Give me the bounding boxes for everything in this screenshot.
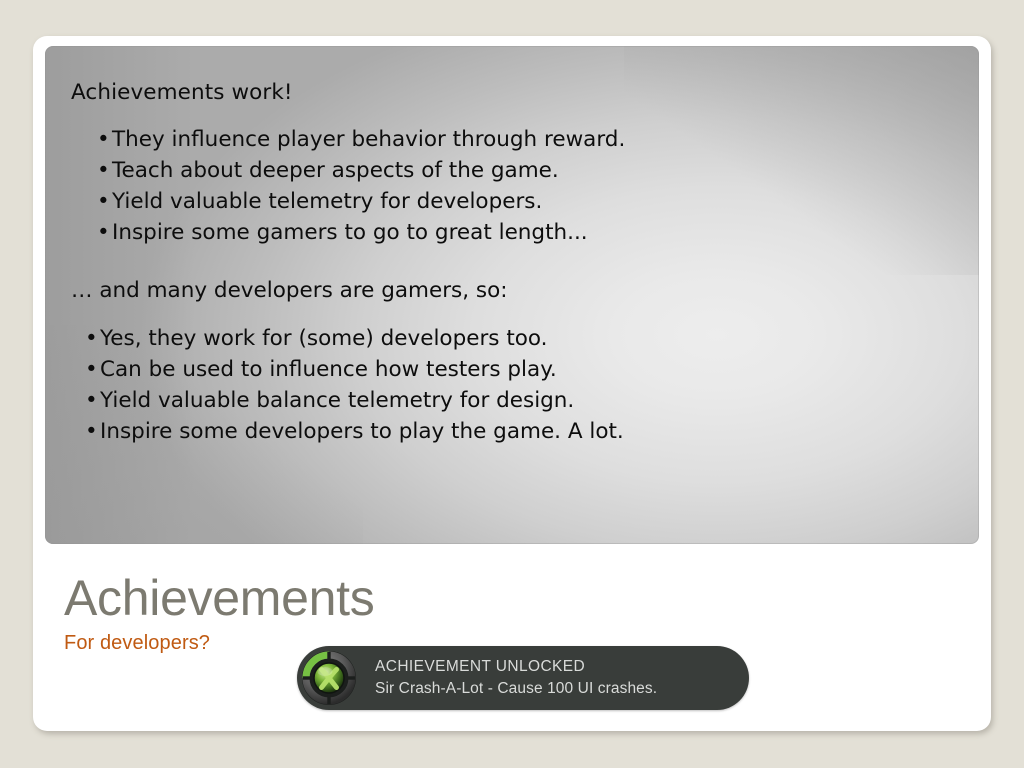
content-image-panel: Achievements work! •They influence playe… [45, 46, 979, 544]
title-block: Achievements For developers? [64, 570, 374, 656]
bullet-list-item: •Yield valuable balance telemetry for de… [85, 385, 979, 416]
panel-transition-line: … and many developers are gamers, so: [71, 277, 979, 304]
bullet-list-item: •Teach about deeper aspects of the game. [97, 155, 979, 186]
bullet-marker-icon: • [97, 124, 112, 155]
achievement-description: Sir Crash-A-Lot - Cause 100 UI crashes. [375, 678, 657, 700]
bullet-item-label: Inspire some gamers to go to great lengt… [112, 220, 588, 245]
achievement-heading: ACHIEVEMENT UNLOCKED [375, 657, 657, 677]
bullet-list-item: •Yes, they work for (some) developers to… [85, 323, 979, 354]
panel-text-content: Achievements work! •They influence playe… [45, 46, 979, 447]
page-title: Achievements [64, 570, 374, 626]
bullet-marker-icon: • [97, 186, 112, 217]
achievement-toast: ACHIEVEMENT UNLOCKED Sir Crash-A-Lot - C… [297, 646, 749, 710]
slide-card: Achievements work! •They influence playe… [33, 36, 991, 731]
bullet-marker-icon: • [85, 354, 100, 385]
bullet-list-group-1: •They influence player behavior through … [71, 124, 979, 248]
bullet-list-item: •Inspire some gamers to go to great leng… [97, 217, 979, 248]
achievement-text-block: ACHIEVEMENT UNLOCKED Sir Crash-A-Lot - C… [375, 657, 657, 700]
bullet-item-label: Can be used to influence how testers pla… [100, 357, 557, 382]
bullet-item-label: Yes, they work for (some) developers too… [100, 326, 548, 351]
bullet-item-label: Inspire some developers to play the game… [100, 419, 624, 444]
bullet-marker-icon: • [97, 155, 112, 186]
bullet-item-label: They influence player behavior through r… [112, 127, 625, 152]
bullet-list-item: •They influence player behavior through … [97, 124, 979, 155]
panel-lead-line: Achievements work! [71, 79, 979, 106]
bullet-list-item: •Yield valuable telemetry for developers… [97, 186, 979, 217]
bullet-item-label: Yield valuable balance telemetry for des… [100, 388, 574, 413]
bullet-item-label: Teach about deeper aspects of the game. [112, 158, 559, 183]
bullet-marker-icon: • [85, 323, 100, 354]
bullet-list-item: •Inspire some developers to play the gam… [85, 416, 979, 447]
bullet-marker-icon: • [85, 416, 100, 447]
bullet-marker-icon: • [97, 217, 112, 248]
bullet-list-item: •Can be used to influence how testers pl… [85, 354, 979, 385]
bullet-marker-icon: • [85, 385, 100, 416]
xbox-achievement-icon [301, 650, 357, 706]
bullet-item-label: Yield valuable telemetry for developers. [112, 189, 542, 214]
bullet-list-group-2: •Yes, they work for (some) developers to… [71, 323, 979, 447]
